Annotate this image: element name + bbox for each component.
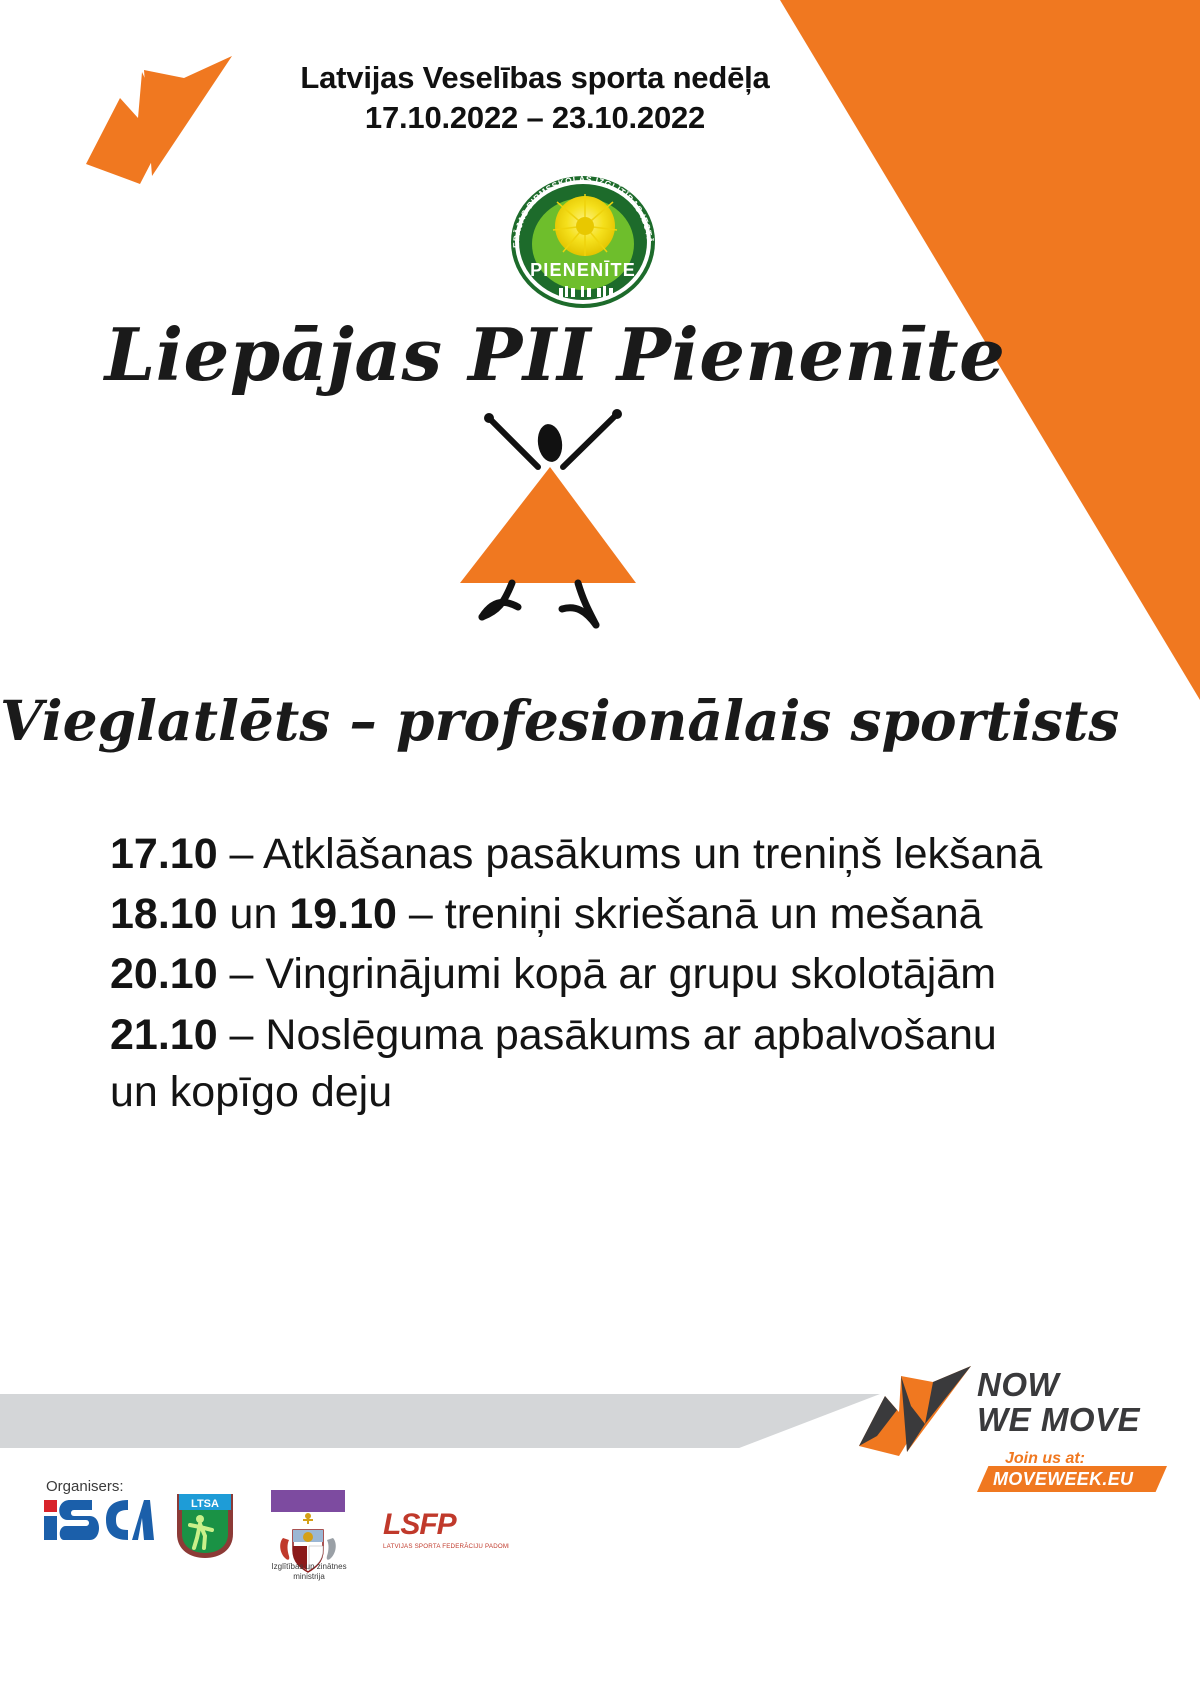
schedule-item-3-text: Vingrinājumi kopā ar grupu skolotājām (265, 950, 996, 998)
ltsa-wordmark: LTSA (191, 1498, 219, 1510)
schedule-item-2-dash: – (397, 890, 445, 938)
join-us-label: Join us at: (1005, 1450, 1085, 1468)
izm-caption: Izglītības un zinātnes ministrija (254, 1562, 364, 1582)
izm-caption-line2: ministrija (254, 1572, 364, 1582)
emblem-name: PIENENĪTE (530, 260, 636, 280)
isca-logo (44, 1498, 154, 1542)
running-athlete-icon (400, 395, 700, 655)
schedule-list: 17.10 – Atklāšanas pasākums un treniņš l… (110, 826, 1050, 1124)
schedule-item-1: 17.10 – Atklāšanas pasākums un treniņš l… (110, 826, 1050, 883)
schedule-item-3: 20.10 – Vingrinājumi kopā ar grupu skolo… (110, 946, 1050, 1003)
schedule-item-2-date: 18.10 (110, 890, 218, 938)
now-we-move-arrow-icon (80, 56, 240, 186)
now-we-move-wordmark: NOW WE MOVE (977, 1368, 1140, 1437)
schedule-item-1-dash: – (218, 830, 263, 878)
lsfp-tagline: LATVIJAS SPORTA FEDERĀCIJU PADOME (383, 1543, 509, 1550)
school-title: Liepājas PII Pienenīte (0, 312, 1110, 397)
header-title: Latvijas Veselības sporta nedēļa 17.10.2… (255, 58, 815, 139)
schedule-item-4-date: 21.10 (110, 1011, 218, 1059)
header: Latvijas Veselības sporta nedēļa 17.10.2… (0, 38, 1000, 178)
schedule-item-2: 18.10 un 19.10 – treniņi skriešanā un me… (110, 886, 1050, 943)
kindergarten-emblem: LIEPĀJAS PIRMSSKOLAS IZGLĪTĪBAS IESTĀDE … (497, 160, 669, 312)
schedule-item-1-text: Atklāšanas pasākums un treniņš lekšanā (263, 830, 1042, 878)
poster-subtitle: Vieglatlēts – profesionālais sportists (0, 688, 1110, 753)
header-date-range: 17.10.2022 – 23.10.2022 (255, 98, 815, 138)
schedule-item-2-text: treniņi skriešanā un mešanā (445, 890, 983, 938)
schedule-item-4-dash: – (218, 1011, 266, 1059)
now-we-move-line1: NOW (977, 1368, 1140, 1403)
poster-canvas: Latvijas Veselības sporta nedēļa 17.10.2… (0, 0, 1200, 1697)
now-we-move-footer-logo: NOW WE MOVE Join us at: MOVEWEEK.EU (855, 1362, 1185, 1482)
schedule-item-2-date2: 19.10 (289, 890, 397, 938)
organisers-row: Organisers: LTSA (44, 1478, 564, 1598)
moveweek-url-bar[interactable]: MOVEWEEK.EU (977, 1466, 1167, 1492)
izm-caption-line1: Izglītības un zinātnes (254, 1562, 364, 1572)
organisers-label: Organisers: (46, 1478, 124, 1495)
schedule-item-4: 21.10 – Noslēguma pasākums ar apbalvošan… (110, 1007, 1050, 1121)
now-we-move-line2: WE MOVE (977, 1403, 1140, 1438)
schedule-item-3-dash: – (218, 950, 266, 998)
lsfp-wordmark: LSFP (383, 1508, 458, 1541)
lsfp-logo: LSFP LATVIJAS SPORTA FEDERĀCIJU PADOME (379, 1506, 509, 1554)
now-we-move-arrow-icon (855, 1366, 975, 1458)
header-title-line1: Latvijas Veselības sporta nedēļa (255, 58, 815, 98)
schedule-item-2-conjunction: un (218, 890, 290, 938)
ltsa-logo: LTSA (174, 1492, 236, 1560)
footer-grey-band (0, 1394, 880, 1448)
moveweek-url: MOVEWEEK.EU (993, 1469, 1133, 1490)
schedule-item-1-date: 17.10 (110, 830, 218, 878)
schedule-item-3-date: 20.10 (110, 950, 218, 998)
